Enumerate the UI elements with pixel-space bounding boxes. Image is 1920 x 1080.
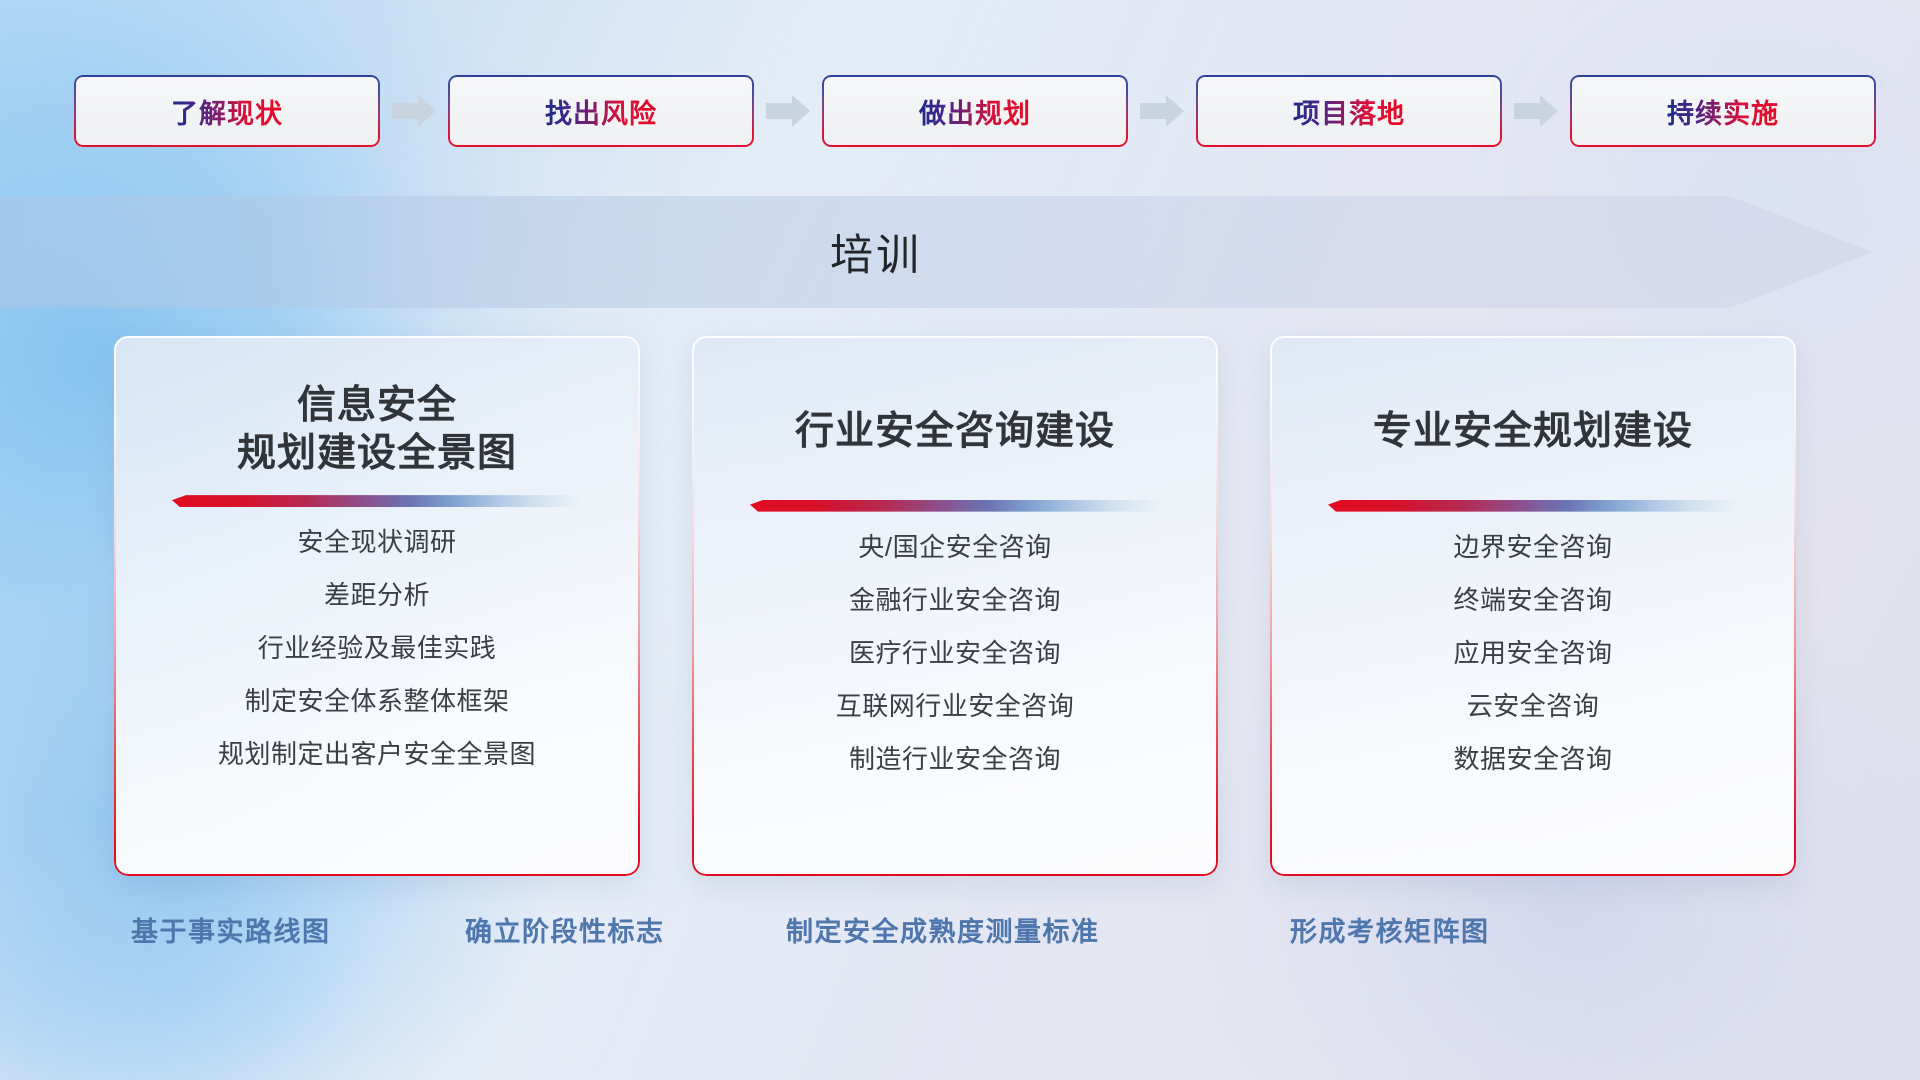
service-card-2[interactable]: 行业安全咨询建设 央/国企安全咨询 金融行业安全咨询 医疗行业安全咨询 互联网行… (692, 336, 1218, 876)
step-arrow-icon-2 (754, 75, 822, 147)
list-item: 安全现状调研 (297, 529, 456, 555)
list-item: 数据安全咨询 (1453, 746, 1612, 772)
list-item: 金融行业安全咨询 (849, 587, 1061, 613)
footer-label-row: 基于事实路线图 确立阶段性标志 制定安全成熟度测量标准 形成考核矩阵图 (0, 910, 1920, 970)
list-item: 云安全咨询 (1467, 693, 1600, 719)
list-item: 规划制定出客户安全全景图 (218, 741, 536, 767)
step-arrow-icon-1 (380, 75, 448, 147)
step-arrow-icon-4 (1502, 75, 1570, 147)
process-step-5-label: 持续实施 (1667, 92, 1779, 131)
footer-label-1: 基于事实路线图 (131, 910, 331, 949)
process-step-5[interactable]: 持续实施 (1570, 75, 1876, 147)
service-card-1[interactable]: 信息安全 规划建设全景图 安全现状调研 差距分析 行业经验及最佳实践 制定安全体… (114, 336, 640, 876)
process-step-2-label: 找出风险 (545, 92, 657, 131)
footer-label-2: 确立阶段性标志 (465, 910, 665, 949)
list-item: 行业经验及最佳实践 (258, 635, 497, 661)
process-step-4-label: 项目落地 (1293, 92, 1405, 131)
service-card-2-title: 行业安全咨询建设 (692, 336, 1218, 456)
process-step-4[interactable]: 项目落地 (1196, 75, 1502, 147)
list-item: 互联网行业安全咨询 (836, 693, 1075, 719)
step-arrow-icon-3 (1128, 75, 1196, 147)
list-item: 差距分析 (324, 582, 430, 608)
process-step-1-label: 了解现状 (171, 92, 283, 131)
footer-label-4: 形成考核矩阵图 (1290, 910, 1490, 949)
service-card-1-title-line-2: 规划建设全景图 (114, 430, 640, 478)
service-card-row: 信息安全 规划建设全景图 安全现状调研 差距分析 行业经验及最佳实践 制定安全体… (0, 336, 1920, 876)
service-card-3[interactable]: 专业安全规划建设 边界安全咨询 终端安全咨询 应用安全咨询 云安全咨询 数据安全… (1270, 336, 1796, 876)
list-item: 制定安全体系整体框架 (244, 688, 509, 714)
service-card-3-divider (1328, 500, 1738, 512)
list-item: 医疗行业安全咨询 (849, 640, 1061, 666)
list-item: 制造行业安全咨询 (849, 746, 1061, 772)
list-item: 终端安全咨询 (1453, 587, 1612, 613)
service-card-1-title: 信息安全 规划建设全景图 (114, 336, 640, 477)
process-step-1[interactable]: 了解现状 (74, 75, 380, 147)
list-item: 应用安全咨询 (1453, 640, 1612, 666)
process-step-3-label: 做出规划 (919, 92, 1031, 131)
service-card-1-title-line-1: 信息安全 (114, 382, 640, 430)
process-step-2[interactable]: 找出风险 (448, 75, 754, 147)
service-card-1-list: 安全现状调研 差距分析 行业经验及最佳实践 制定安全体系整体框架 规划制定出客户… (114, 529, 640, 794)
service-card-3-list: 边界安全咨询 终端安全咨询 应用安全咨询 云安全咨询 数据安全咨询 (1270, 534, 1796, 799)
list-item: 边界安全咨询 (1453, 534, 1612, 560)
list-item: 央/国企安全咨询 (858, 534, 1051, 560)
service-card-2-list: 央/国企安全咨询 金融行业安全咨询 医疗行业安全咨询 互联网行业安全咨询 制造行… (692, 534, 1218, 799)
service-card-2-divider (750, 500, 1160, 512)
process-step-3[interactable]: 做出规划 (822, 75, 1128, 147)
service-card-3-title-line-1: 专业安全规划建设 (1270, 408, 1796, 456)
service-card-2-title-line-1: 行业安全咨询建设 (692, 408, 1218, 456)
footer-label-3: 制定安全成熟度测量标准 (786, 910, 1100, 949)
process-step-row: 了解现状 找出风险 做出规划 项目落地 持续实施 (0, 75, 1920, 147)
service-card-3-title: 专业安全规划建设 (1270, 336, 1796, 456)
banner-title: 培训 (0, 196, 1872, 308)
training-banner: 培训 (0, 196, 1872, 308)
service-card-1-divider (172, 495, 582, 507)
